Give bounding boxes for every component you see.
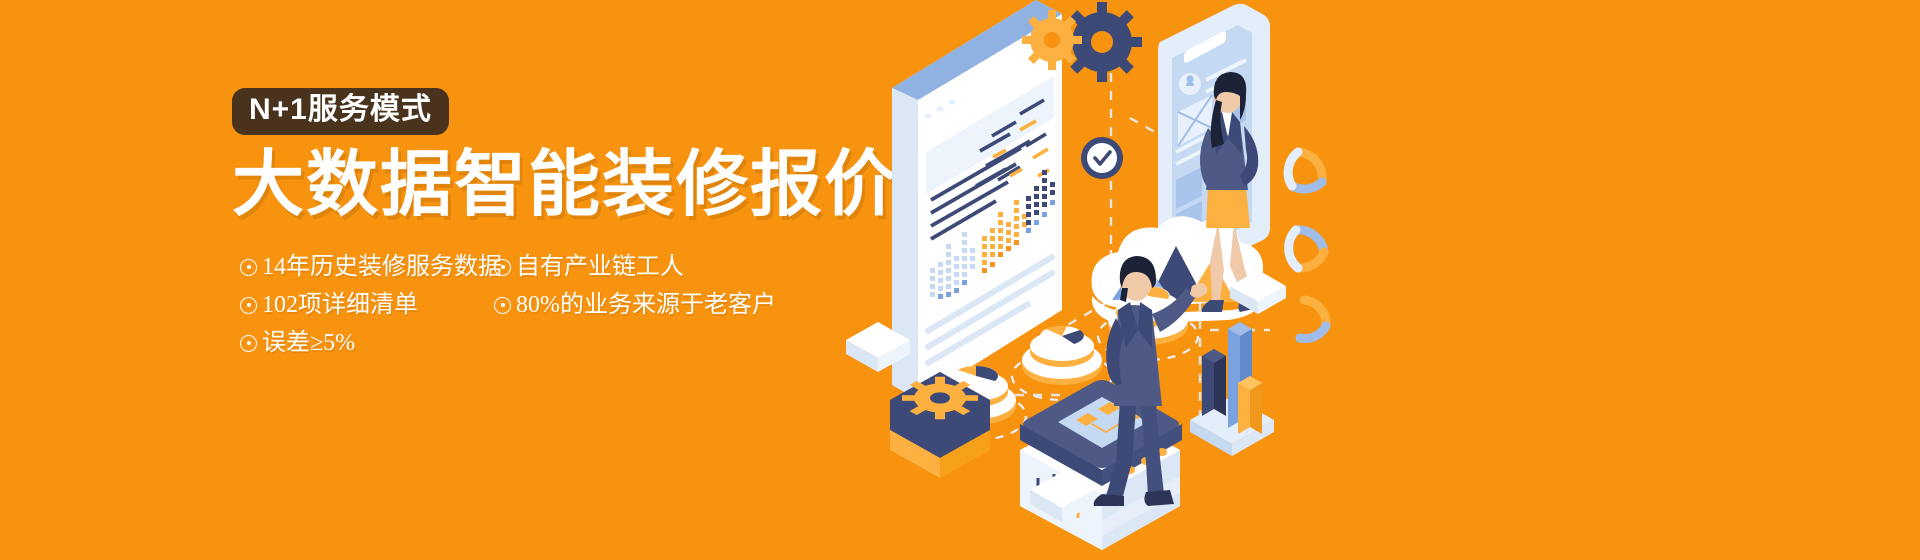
service-mode-badge: N+1服务模式 [232,88,449,135]
bullet-column-right: 自有产业链工人 80%的业务来源于老客户 [494,248,776,324]
big-data-isometric-illustration [830,0,1390,560]
circle-dot-icon [494,259,511,276]
gear-orange [1022,10,1082,70]
bar-chart-platform [1190,322,1274,456]
bullet-label: 误差≥5% [262,331,355,355]
banner-headline: 大数据智能装修报价 [232,147,932,225]
bullet-label: 14年历史装修服务数据 [262,255,502,279]
bullet-label: 自有产业链工人 [516,255,684,279]
bullet-label: 102项详细清单 [262,293,418,317]
circle-dot-icon [494,297,511,314]
bullet-item: 误差≥5% [240,324,502,362]
bullet-label: 80%的业务来源于老客户 [516,293,776,317]
checkmark-badge [1081,137,1123,179]
circle-dot-icon [240,259,257,276]
bullet-item: 14年历史装修服务数据 [240,248,502,286]
banner-text-block: N+1服务模式 大数据智能装修报价 14年历史装修服务数据 102项详细清单 误… [232,88,932,248]
circle-dot-icon [240,297,257,314]
promo-banner: N+1服务模式 大数据智能装修报价 14年历史装修服务数据 102项详细清单 误… [0,0,1920,560]
circle-dot-icon [240,335,257,352]
bullet-column-left: 14年历史装修服务数据 102项详细清单 误差≥5% [240,248,502,362]
bullet-item: 102项详细清单 [240,286,502,324]
ring-arcs [1288,152,1326,339]
bullet-item: 自有产业链工人 [494,248,776,286]
bullet-item: 80%的业务来源于老客户 [494,286,776,324]
gear-small-icon [902,377,978,420]
